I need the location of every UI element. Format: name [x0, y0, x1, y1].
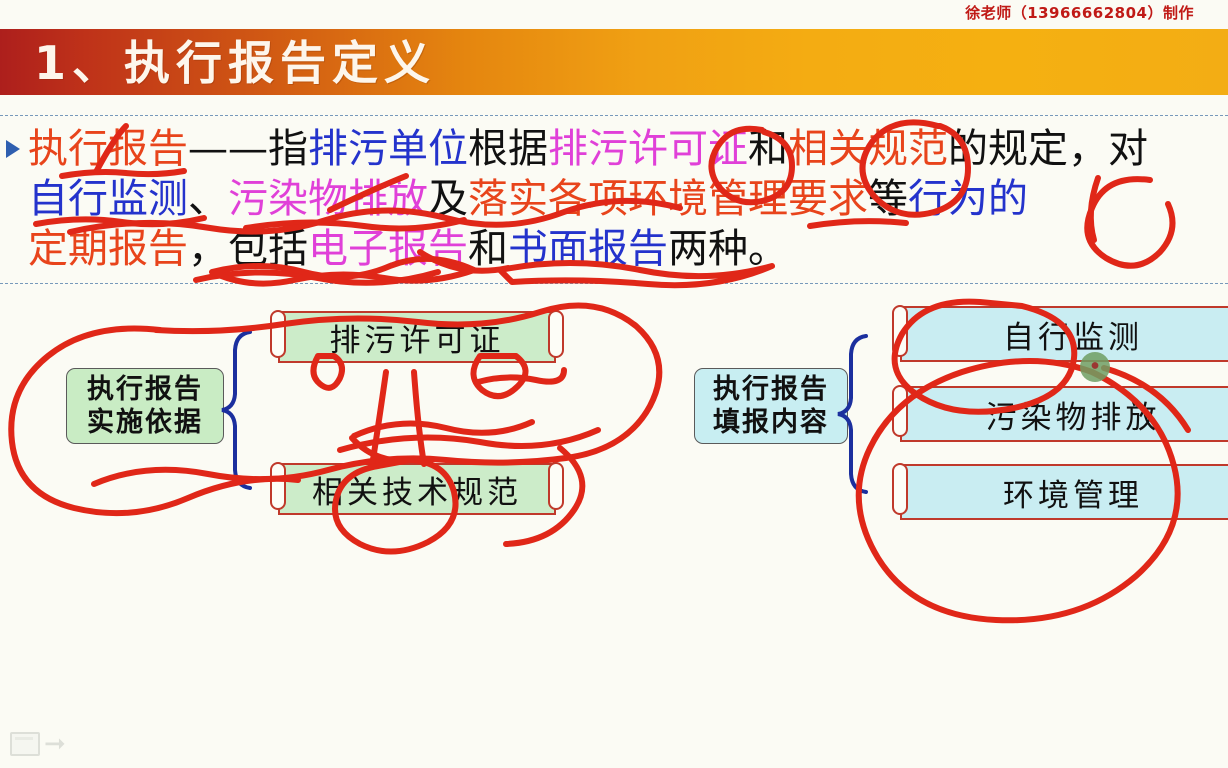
paragraph-run-13: 等	[868, 176, 908, 222]
paragraph-run-9: 、	[188, 176, 228, 222]
next-slide-button[interactable]: ➞	[44, 734, 74, 756]
page-title: 1、执行报告定义	[34, 27, 436, 93]
paragraph-run-19: 书面报告	[508, 226, 668, 272]
definition-paragraph: 执行报告——指排污单位根据排污许可证和相关规范的规定，对自行监测、污染物排放及落…	[28, 124, 1228, 274]
node-cap-right-icon	[548, 462, 564, 510]
node-cap-left-icon	[270, 462, 286, 510]
left-node-0[interactable]: 排污许可证	[278, 311, 556, 363]
left-node-1-label: 相关技术规范	[312, 467, 522, 512]
right-node-1-label: 污染物排放	[986, 392, 1161, 437]
paragraph-run-12: 落实各项环境管理要求	[468, 176, 868, 222]
left-group-label: 执行报告 实施依据	[66, 368, 224, 444]
slide-title-banner: 1、执行报告定义	[0, 29, 1228, 95]
node-cap-left-icon	[892, 385, 908, 437]
paragraph-run-6: 相关规范	[788, 126, 948, 172]
paragraph-run-11: 及	[428, 176, 468, 222]
right-node-1[interactable]: 污染物排放	[900, 386, 1228, 442]
slide-canvas: 徐老师（13966662804）制作 1、执行报告定义 执行报告——指排污单位根…	[0, 0, 1228, 768]
left-group-label-line1: 执行报告	[87, 373, 203, 406]
node-cap-left-icon	[892, 463, 908, 515]
right-group-label-line1: 执行报告	[713, 373, 829, 406]
divider-bottom	[0, 283, 1228, 284]
paragraph-run-2: 排污单位	[308, 126, 468, 172]
paragraph-run-7: 的规定，对	[948, 126, 1148, 172]
node-cap-left-icon	[892, 305, 908, 357]
bullet-triangle-icon	[6, 140, 20, 158]
paragraph-run-14: 行为的	[908, 176, 1028, 222]
laser-pointer-dot	[1080, 352, 1110, 382]
right-node-0[interactable]: 自行监测	[900, 306, 1228, 362]
right-node-0-label: 自行监测	[1003, 312, 1143, 357]
left-node-1[interactable]: 相关技术规范	[278, 463, 556, 515]
paragraph-run-5: 和	[748, 126, 788, 172]
paragraph-run-18: 和	[468, 226, 508, 272]
node-cap-left-icon	[270, 310, 286, 358]
paragraph-run-15: 定期报告	[28, 226, 188, 272]
right-node-2-label: 环境管理	[1003, 470, 1143, 515]
paragraph-run-3: 根据	[468, 126, 548, 172]
right-group-label-line2: 填报内容	[713, 406, 829, 439]
prev-slide-button[interactable]	[10, 732, 40, 756]
left-node-0-label: 排污许可证	[330, 315, 505, 360]
paragraph-run-16: ，包括	[188, 226, 308, 272]
left-group-label-line2: 实施依据	[87, 406, 203, 439]
paragraph-run-4: 排污许可证	[548, 126, 748, 172]
right-group-label: 执行报告 填报内容	[694, 368, 848, 444]
paragraph-run-0: 执行报告	[28, 126, 188, 172]
paragraph-run-17: 电子报告	[308, 226, 468, 272]
paragraph-run-10: 污染物排放	[228, 176, 428, 222]
divider-top	[0, 115, 1228, 116]
right-node-2[interactable]: 环境管理	[900, 464, 1228, 520]
paragraph-run-8: 自行监测	[28, 176, 188, 222]
node-cap-right-icon	[548, 310, 564, 358]
author-credit: 徐老师（13966662804）制作	[965, 2, 1194, 23]
paragraph-run-1: ——指	[188, 126, 308, 172]
paragraph-run-20: 两种。	[668, 226, 788, 272]
